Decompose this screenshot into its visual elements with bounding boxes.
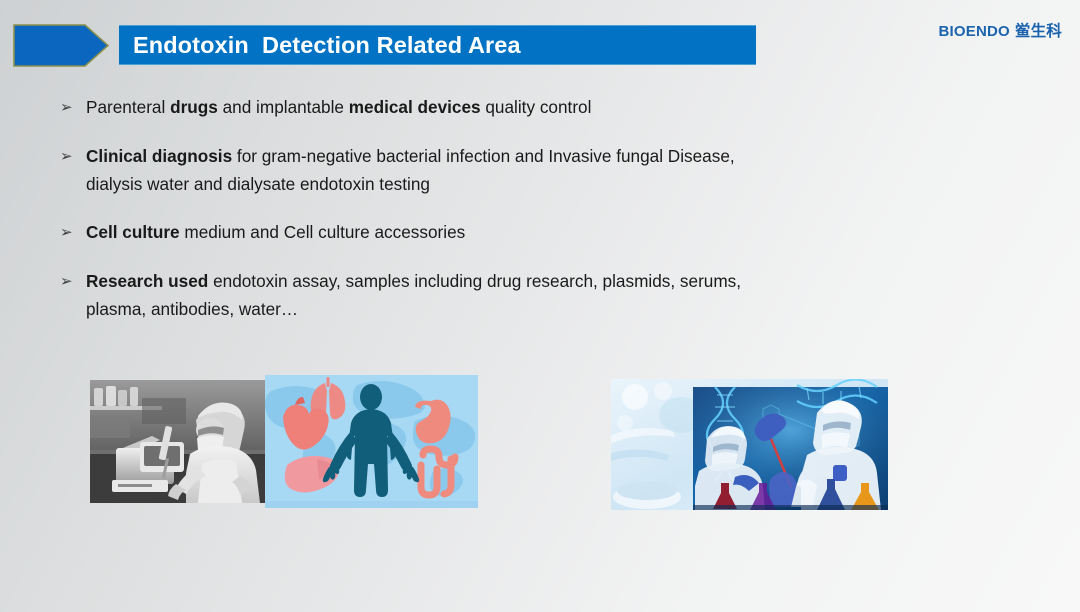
bullet-arrow-icon: ➢ — [60, 93, 86, 122]
bullet-emphasis: Research used — [86, 271, 208, 291]
title-chevron-icon — [13, 24, 109, 67]
bullet-item: ➢Clinical diagnosis for gram-negative ba… — [60, 142, 940, 198]
bullet-text: Clinical diagnosis for gram-negative bac… — [86, 142, 940, 198]
bullet-segment: dialysis water and dialysate endotoxin t… — [86, 174, 430, 194]
bullet-arrow-icon: ➢ — [60, 218, 86, 247]
slide-canvas: BIOENDO鲎生科 Endotoxin Detection Related A… — [0, 0, 1080, 612]
bullet-line: Cell culture medium and Cell culture acc… — [86, 218, 940, 246]
image-world-map-human-organs — [265, 375, 478, 508]
bullet-segment: endotoxin assay, samples including drug … — [208, 271, 741, 291]
brand-logo: BIOENDO鲎生科 — [938, 19, 1062, 41]
bullet-segment: and implantable — [218, 97, 349, 117]
bullet-line: Parenteral drugs and implantable medical… — [86, 93, 940, 121]
bullet-arrow-icon: ➢ — [60, 267, 86, 296]
image-scientists-dna-lab — [611, 379, 888, 510]
slide-title-bar: Endotoxin Detection Related Area — [119, 25, 756, 65]
bullet-segment: for gram-negative bacterial infection an… — [232, 146, 735, 166]
bullet-text: Research used endotoxin assay, samples i… — [86, 267, 940, 323]
bullet-line: dialysis water and dialysate endotoxin t… — [86, 170, 940, 198]
brand-logo-chinese: 鲎生科 — [1015, 23, 1062, 40]
image-lab-technician-grayscale — [90, 380, 267, 503]
bullet-segment: quality control — [481, 97, 592, 117]
bullet-item: ➢Cell culture medium and Cell culture ac… — [60, 218, 940, 247]
brand-logo-latin: BIOENDO — [938, 23, 1009, 40]
bullet-segment: medium and Cell culture accessories — [180, 222, 466, 242]
bullet-list: ➢Parenteral drugs and implantable medica… — [60, 93, 940, 343]
bullet-line: Research used endotoxin assay, samples i… — [86, 267, 940, 295]
bullet-line: Clinical diagnosis for gram-negative bac… — [86, 142, 940, 170]
bullet-arrow-icon: ➢ — [60, 142, 86, 171]
bullet-item: ➢Parenteral drugs and implantable medica… — [60, 93, 940, 122]
bullet-segment: Parenteral — [86, 97, 170, 117]
bullet-text: Cell culture medium and Cell culture acc… — [86, 218, 940, 246]
bullet-line: plasma, antibodies, water… — [86, 295, 940, 323]
bullet-emphasis: drugs — [170, 97, 218, 117]
bullet-segment: plasma, antibodies, water… — [86, 299, 298, 319]
bullet-emphasis: Clinical diagnosis — [86, 146, 232, 166]
bullet-emphasis: Cell culture — [86, 222, 180, 242]
bullet-emphasis: medical devices — [349, 97, 481, 117]
page-title: Endotoxin Detection Related Area — [133, 32, 521, 59]
bullet-item: ➢Research used endotoxin assay, samples … — [60, 267, 940, 323]
bullet-text: Parenteral drugs and implantable medical… — [86, 93, 940, 121]
